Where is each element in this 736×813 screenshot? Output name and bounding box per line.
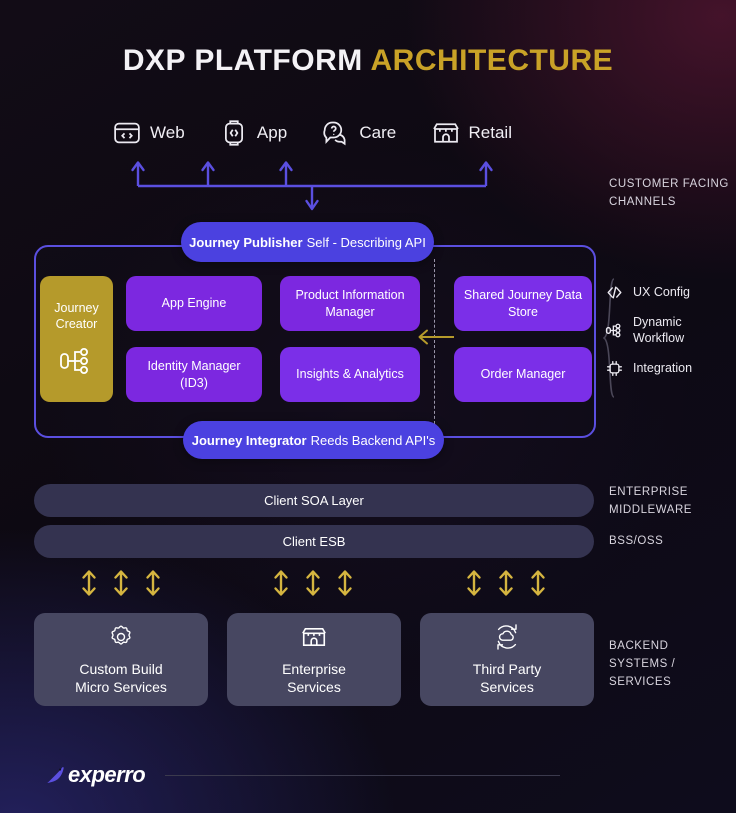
bidirectional-arrows-row	[34, 568, 594, 598]
channel-web: Web	[112, 118, 185, 148]
card-insights-analytics[interactable]: Insights & Analytics	[280, 347, 420, 402]
journey-publisher-title: Journey Publisher	[189, 235, 302, 250]
card-order-manager[interactable]: Order Manager	[454, 347, 592, 402]
gear-icon	[107, 623, 135, 651]
card-label-line-1: Custom Build	[75, 660, 167, 678]
channel-label: App	[257, 123, 287, 143]
bar-label: Client SOA Layer	[264, 493, 364, 508]
card-label: Insights & Analytics	[296, 366, 404, 382]
card-identity-manager[interactable]: Identity Manager (ID3)	[126, 347, 262, 402]
legend-item-ux-config: UX Config	[605, 283, 730, 302]
card-label-line-2: Micro Services	[75, 678, 167, 696]
storefront-icon	[300, 623, 328, 651]
legend-label: UX Config	[633, 285, 690, 301]
caption-backend-systems-services: BACKEND SYSTEMS / SERVICES	[609, 638, 719, 691]
workflow-branch-icon	[57, 344, 97, 378]
platform-card-grid: Journey Creator App Engine Identity Mana…	[40, 276, 592, 402]
channel-label: Retail	[469, 123, 512, 143]
card-label-line-2: Services	[282, 678, 346, 696]
legend-label: Integration	[633, 361, 692, 377]
journey-publisher-subtitle: Self - Describing API	[307, 235, 426, 250]
journey-integrator-pill[interactable]: Journey Integrator Reeds Backend API's	[183, 421, 444, 459]
card-shared-journey-data-store[interactable]: Shared Journey Data Store	[454, 276, 592, 331]
storefront-icon	[431, 118, 461, 148]
journey-integrator-subtitle: Reeds Backend API's	[311, 433, 436, 448]
footer: experro	[44, 762, 560, 788]
card-app-engine[interactable]: App Engine	[126, 276, 262, 331]
caption-enterprise-middleware: ENTERPRISE MIDDLEWARE	[609, 484, 729, 520]
smartwatch-code-icon	[219, 118, 249, 148]
channel-bus-connector	[112, 156, 512, 218]
workflow-branch-icon	[605, 321, 624, 340]
legend-item-dynamic-workflow: Dynamic Workflow	[605, 315, 730, 346]
card-label-line-1: Third Party	[473, 660, 541, 678]
browser-code-icon	[112, 118, 142, 148]
customer-facing-channels-row: Web App Care	[112, 110, 512, 156]
parrot-mark-icon	[44, 764, 66, 786]
cloud-sync-icon	[493, 623, 521, 651]
card-enterprise-services[interactable]: Enterprise Services	[227, 613, 401, 706]
bar-client-soa-layer[interactable]: Client SOA Layer	[34, 484, 594, 517]
card-label: App Engine	[162, 295, 227, 311]
card-label: Enterprise Services	[282, 660, 346, 696]
card-label: Product Information Manager	[288, 287, 412, 320]
journey-publisher-pill[interactable]: Journey Publisher Self - Describing API	[181, 222, 434, 262]
card-journey-creator[interactable]: Journey Creator	[40, 276, 113, 402]
caption-customer-facing-channels: CUSTOMER FACING CHANNELS	[609, 176, 729, 212]
card-label: Journey Creator	[48, 300, 105, 333]
card-third-party-services[interactable]: Third Party Services	[420, 613, 594, 706]
title-part-1: DXP PLATFORM	[123, 44, 363, 77]
legend-label: Dynamic Workflow	[633, 315, 730, 346]
channel-retail: Retail	[431, 118, 512, 148]
card-label: Custom Build Micro Services	[75, 660, 167, 696]
footer-divider	[165, 775, 560, 776]
brand-name: experro	[68, 762, 145, 788]
channel-care: Care	[321, 118, 396, 148]
page-title: DXP PLATFORM ARCHITECTURE	[0, 44, 736, 78]
card-label-line-2: Services	[473, 678, 541, 696]
card-custom-build-micro-services[interactable]: Custom Build Micro Services	[34, 613, 208, 706]
title-part-2: ARCHITECTURE	[370, 44, 613, 77]
journey-integrator-title: Journey Integrator	[192, 433, 307, 448]
card-label: Third Party Services	[473, 660, 541, 696]
card-label: Order Manager	[481, 366, 566, 382]
card-label: Shared Journey Data Store	[462, 287, 584, 320]
card-product-information-manager[interactable]: Product Information Manager	[280, 276, 420, 331]
chat-question-icon	[321, 118, 351, 148]
channel-label: Care	[359, 123, 396, 143]
bar-client-esb[interactable]: Client ESB	[34, 525, 594, 558]
channel-label: Web	[150, 123, 185, 143]
channel-app: App	[219, 118, 287, 148]
card-label: Identity Manager (ID3)	[134, 358, 254, 391]
diagram-canvas: DXP PLATFORM ARCHITECTURE Web App	[0, 0, 736, 813]
platform-capability-legend: UX Config Dynamic Workflow Integration	[605, 283, 730, 391]
caption-bss-oss: BSS/OSS	[609, 533, 729, 551]
bar-label: Client ESB	[283, 534, 346, 549]
card-label-line-1: Enterprise	[282, 660, 346, 678]
legend-item-integration: Integration	[605, 359, 730, 378]
code-brackets-icon	[605, 283, 624, 302]
chip-icon	[605, 359, 624, 378]
